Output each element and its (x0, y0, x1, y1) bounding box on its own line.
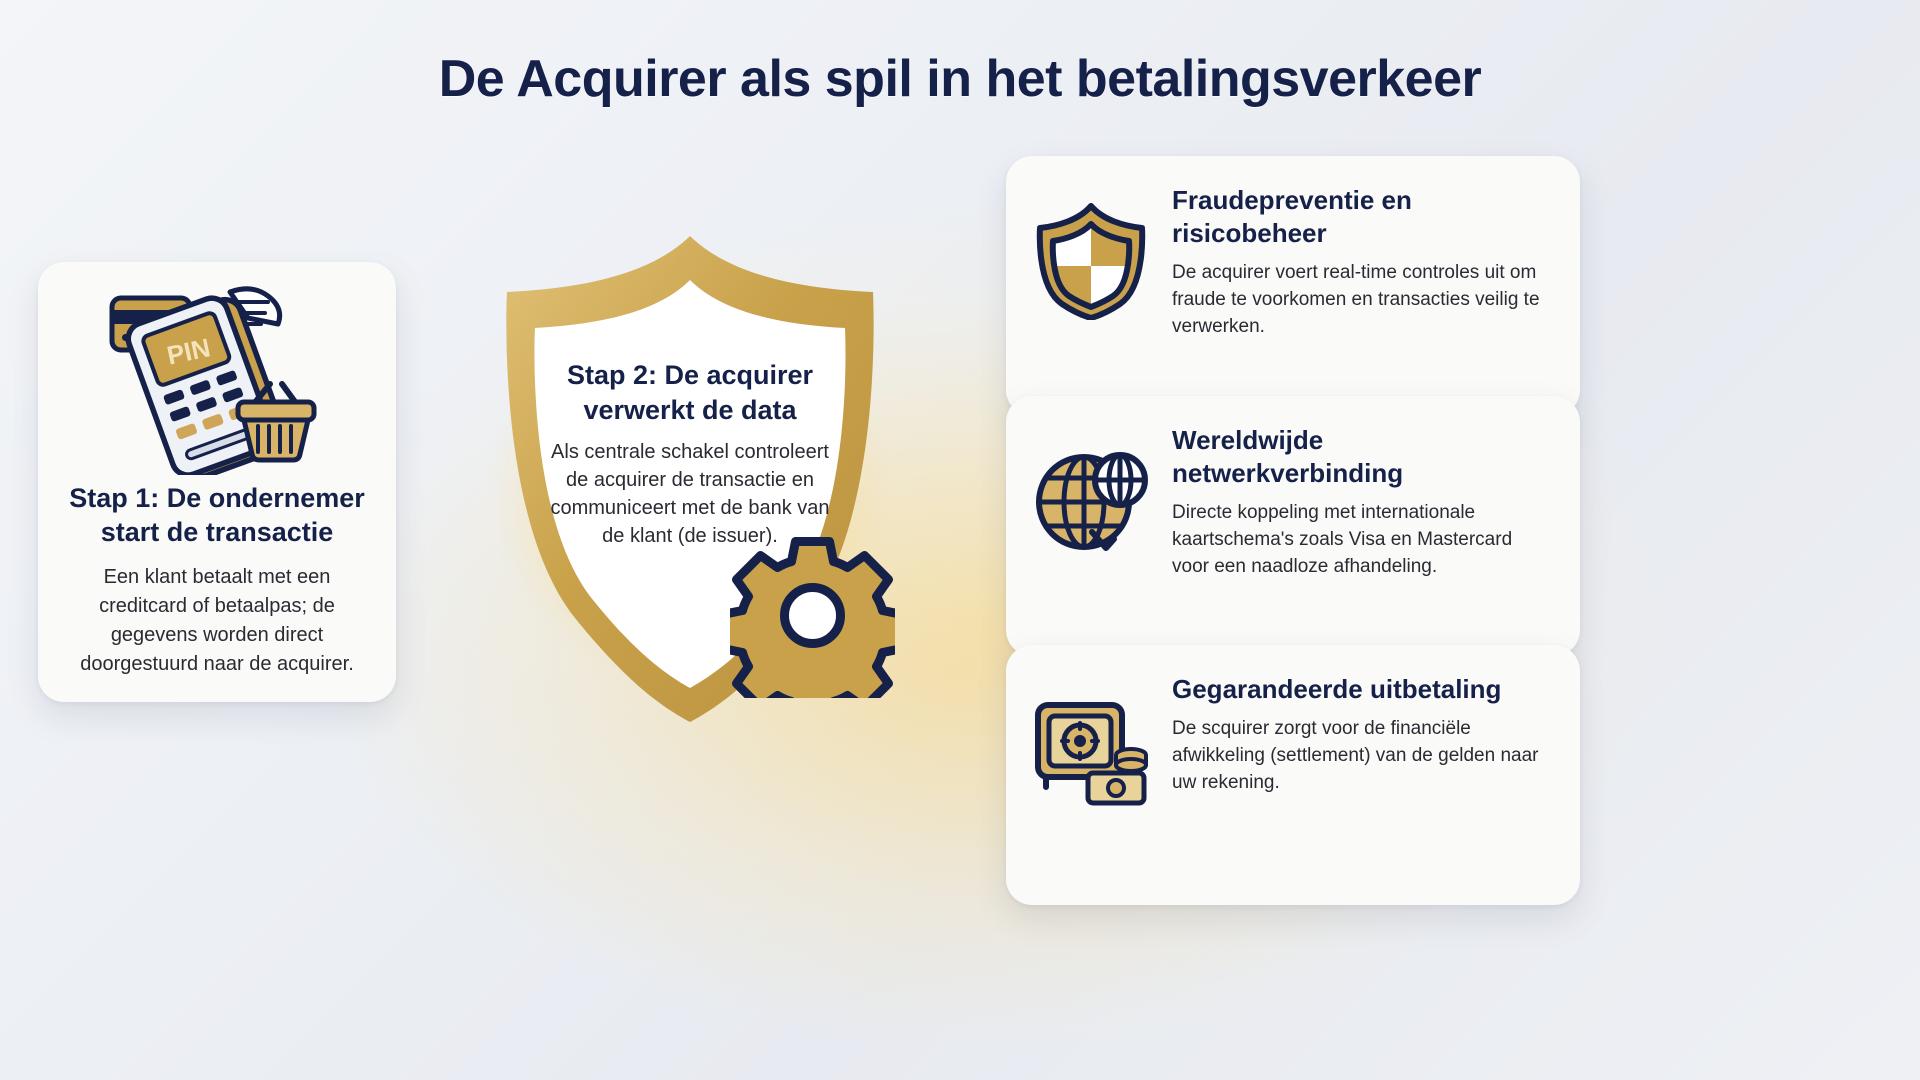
feature-heading: Gegarandeerde uitbetaling (1172, 673, 1554, 706)
feature-card-fraudepreventie: Fraudepreventie en risicobeheer De acqui… (1006, 156, 1580, 416)
feature-heading: Fraudepreventie en risicobeheer (1172, 184, 1554, 250)
step-1-body: Een klant betaalt met een creditcard of … (72, 563, 362, 679)
step-1-heading: Stap 1: De ondernemer start de transacti… (62, 481, 372, 549)
feature-body: De acquirer voert real-time controles ui… (1172, 259, 1554, 340)
safe-vault-icon (1032, 689, 1150, 809)
page-title: De Acquirer als spil in het betalingsver… (0, 48, 1920, 110)
feature-text: Wereldwijde netwerkverbinding Directe ko… (1172, 420, 1554, 580)
pos-terminal-icon: PIN (102, 280, 332, 475)
step-2-shield: Stap 2: De acquirer verwerkt de data Als… (455, 218, 925, 738)
feature-text: Fraudepreventie en risicobeheer De acqui… (1172, 180, 1554, 340)
feature-heading: Wereldwijde netwerkverbinding (1172, 424, 1554, 490)
step-1-card: PIN (38, 262, 396, 702)
feature-card-uitbetaling: Gegarandeerde uitbetaling De scquirer zo… (1006, 645, 1580, 905)
step-2-heading: Stap 2: De acquirer verwerkt de data (527, 358, 853, 428)
step-2-text: Stap 2: De acquirer verwerkt de data Als… (527, 358, 853, 550)
gear-icon (730, 533, 895, 698)
feature-card-netwerkverbinding: Wereldwijde netwerkverbinding Directe ko… (1006, 396, 1580, 656)
infographic-canvas: De Acquirer als spil in het betalingsver… (0, 0, 1920, 1080)
feature-text: Gegarandeerde uitbetaling De scquirer zo… (1172, 669, 1554, 796)
feature-body: Directe koppeling met internationale kaa… (1172, 499, 1554, 580)
feature-body: De scquirer zorgt voor de financiële afw… (1172, 715, 1554, 796)
globe-network-icon (1032, 440, 1150, 560)
shield-check-icon (1032, 200, 1150, 320)
